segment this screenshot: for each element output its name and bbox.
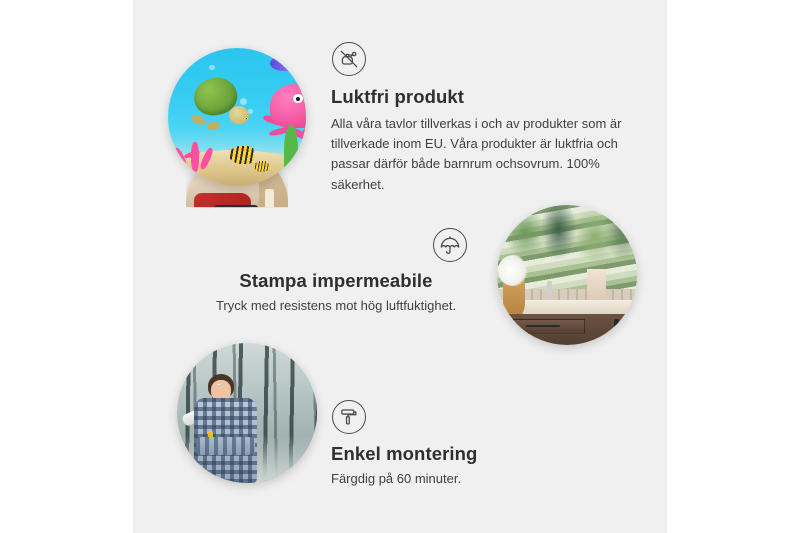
forest-scene xyxy=(177,343,317,483)
bubble-icon xyxy=(240,98,247,105)
feature-body: Alla våra tavlor tillverkas i och av pro… xyxy=(331,114,635,195)
fish-striped-icon xyxy=(229,146,254,164)
person-with-roller xyxy=(185,374,272,483)
feature-body: Färgdig på 60 minuter. xyxy=(331,469,580,489)
no-fragrance-icon xyxy=(332,42,366,76)
coral-branch xyxy=(198,146,213,170)
feature-block-easy-mounting: Enkel montering Färgdig på 60 minuter. xyxy=(330,400,580,489)
seaweed-icon xyxy=(284,125,298,175)
person-arms xyxy=(196,437,255,454)
product-feature-graphic: Luktfri produkt Alla våra tavlor tillver… xyxy=(0,0,800,533)
kitchen-scene xyxy=(497,205,637,345)
turtle-head xyxy=(229,106,249,125)
product-photo-forest xyxy=(177,343,317,483)
turtle-flipper xyxy=(190,113,207,126)
feature-block-odourless: Luktfri produkt Alla våra tavlor tillver… xyxy=(330,42,635,195)
product-photo-underwater xyxy=(168,48,306,186)
paint-roller-icon xyxy=(332,400,366,434)
octopus-body xyxy=(270,84,306,128)
bubble-icon xyxy=(209,65,215,71)
cabinet xyxy=(508,314,637,345)
octopus-icon xyxy=(256,84,306,156)
feature-body: Tryck med resistens mot hög luftfuktighe… xyxy=(205,296,467,316)
person-smile xyxy=(218,384,220,385)
fish-small-icon xyxy=(254,161,269,172)
sea-background xyxy=(168,48,306,186)
product-photo-kitchen xyxy=(497,205,637,345)
feature-title: Stampa impermeabile xyxy=(205,270,467,292)
bubble-icon xyxy=(248,109,253,114)
umbrella-icon xyxy=(433,228,467,262)
feature-block-waterproof: Stampa impermeabile Tryck med resistens … xyxy=(205,228,467,316)
feature-title: Luktfri produkt xyxy=(331,86,635,108)
turtle-eye xyxy=(246,117,248,119)
coral-icon xyxy=(174,131,221,172)
drawer-handle xyxy=(526,325,559,327)
fish-blue-icon xyxy=(270,56,298,71)
turtle-flipper xyxy=(207,121,221,130)
octopus-eye xyxy=(293,94,303,104)
feature-title: Enkel montering xyxy=(331,443,580,465)
door-handle xyxy=(614,319,619,344)
coral-branch xyxy=(191,142,199,172)
